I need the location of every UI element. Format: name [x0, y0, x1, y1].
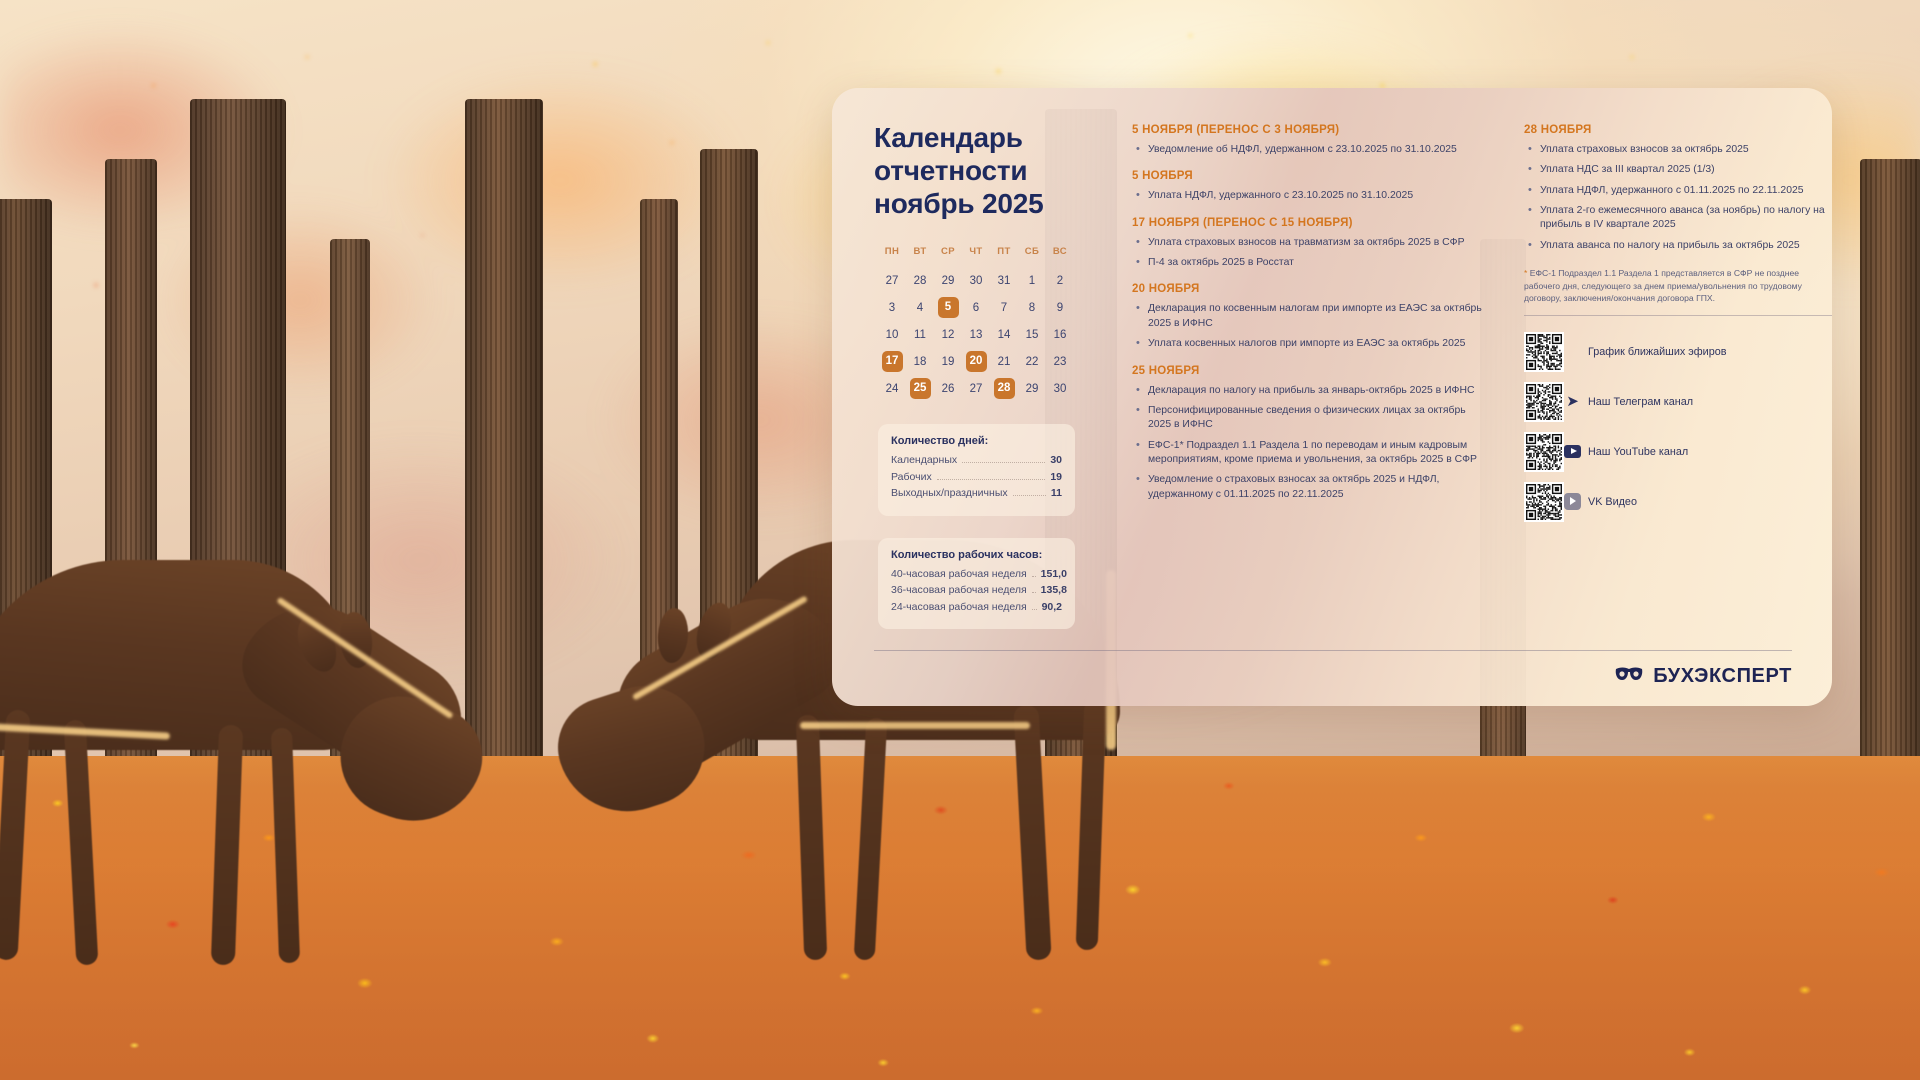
stat-label: Рабочих [891, 471, 932, 483]
work-hours-title: Количество рабочих часов: [891, 549, 1062, 561]
calendar-day[interactable]: 30 [962, 267, 990, 294]
calendar-day[interactable]: 2 [1046, 267, 1074, 294]
weekday-sun: ВС [1046, 246, 1074, 267]
calendar-day[interactable]: 10 [878, 321, 906, 348]
day-chip[interactable]: 20 [966, 351, 987, 372]
footnote-divider [1524, 315, 1832, 316]
calendar-day[interactable]: 27 [878, 267, 906, 294]
stat-label: 36-часовая рабочая неделя [891, 584, 1027, 596]
stat-row: Выходных/праздничных 11 [891, 487, 1062, 499]
calendar-day[interactable]: 28 [906, 267, 934, 294]
stat-row: 36-часовая рабочая неделя 135,8 [891, 584, 1062, 596]
day-chip[interactable]: 5 [938, 297, 959, 318]
calendar-day[interactable]: 29 [934, 267, 962, 294]
stat-dots [1032, 592, 1036, 593]
social-link-label[interactable]: VK Видео [1564, 493, 1637, 510]
stat-row: Календарных 30 [891, 454, 1062, 466]
stat-value: 151,0 [1041, 568, 1067, 580]
stat-value: 11 [1051, 487, 1062, 499]
deadline-date-heading: 20 НОЯБРЯ [1132, 283, 1482, 295]
deadline-item: Уплата страховых взносов за октябрь 2025 [1524, 143, 1832, 157]
calendar-day[interactable]: 14 [990, 321, 1018, 348]
deadline-item: Уплата страховых взносов на травматизм з… [1132, 236, 1482, 250]
social-link-label[interactable]: Наш YouTube канал [1564, 443, 1688, 460]
calendar-day-marked[interactable]: 25 [906, 375, 934, 402]
footnote-text: ЕФС-1 Подраздел 1.1 Раздела 1 представля… [1524, 268, 1802, 303]
deadline-date-heading: 28 НОЯБРЯ [1524, 124, 1832, 136]
stat-dots [1032, 609, 1037, 610]
social-link-row[interactable]: Наш YouTube канал [1524, 432, 1832, 472]
tree-trunk [1860, 159, 1920, 799]
calendar-day[interactable]: 29 [1018, 375, 1046, 402]
stat-dots [962, 462, 1045, 463]
deadline-group: 5 НОЯБРЯУплата НДФЛ, удержанного с 23.10… [1132, 170, 1482, 203]
calendar-day[interactable]: 7 [990, 294, 1018, 321]
calendar-day[interactable]: 27 [962, 375, 990, 402]
weekday-thu: ЧТ [962, 246, 990, 267]
stat-row: Рабочих 19 [891, 471, 1062, 483]
qr-code[interactable] [1524, 332, 1564, 372]
stat-dots [1013, 495, 1046, 496]
qr-code[interactable] [1524, 432, 1564, 472]
glasses-icon [1614, 666, 1644, 687]
stat-value: 135,8 [1041, 584, 1067, 596]
deadline-group: 5 НОЯБРЯ (ПЕРЕНОС С 3 НОЯБРЯ)Уведомление… [1132, 124, 1482, 157]
calendar-week-row: 3456789 [878, 294, 1074, 321]
calendar-week-row: 10111213141516 [878, 321, 1074, 348]
stat-dots [937, 479, 1046, 480]
qr-code[interactable] [1524, 382, 1564, 422]
deadline-group: 17 НОЯБРЯ (ПЕРЕНОС С 15 НОЯБРЯ)Уплата ст… [1132, 217, 1482, 271]
calendar-day-marked[interactable]: 17 [878, 348, 906, 375]
calendar-day[interactable]: 16 [1046, 321, 1074, 348]
calendar-day[interactable]: 24 [878, 375, 906, 402]
calendar-day[interactable]: 11 [906, 321, 934, 348]
link-text: Наш Телеграм канал [1588, 396, 1693, 408]
day-chip[interactable]: 25 [910, 378, 931, 399]
deadline-item: Уплата 2-го ежемесячного аванса (за нояб… [1524, 204, 1832, 233]
weekday-sat: СБ [1018, 246, 1046, 267]
calendar-week-row: 272829303112 [878, 267, 1074, 294]
stat-label: Выходных/праздничных [891, 487, 1008, 499]
stat-value: 19 [1050, 471, 1062, 483]
weekday-tue: ВТ [906, 246, 934, 267]
calendar-day[interactable]: 31 [990, 267, 1018, 294]
deadline-list: Уплата страховых взносов за октябрь 2025… [1524, 143, 1832, 253]
vk-video-icon [1564, 493, 1581, 510]
social-link-label[interactable]: ➤Наш Телеграм канал [1564, 393, 1693, 410]
weekday-mon: ПН [878, 246, 906, 267]
calendar-day[interactable]: 6 [962, 294, 990, 321]
deadline-date-heading: 5 НОЯБРЯ [1132, 170, 1482, 182]
calendar-day-marked[interactable]: 5 [934, 294, 962, 321]
left-column: Календарь отчетности ноябрь 2025 ПН ВТ С… [874, 114, 1102, 706]
day-chip[interactable]: 28 [994, 378, 1015, 399]
calendar-day[interactable]: 26 [934, 375, 962, 402]
calendar-day-marked[interactable]: 28 [990, 375, 1018, 402]
social-links: График ближайших эфиров ➤Наш Телеграм ка… [1524, 332, 1832, 522]
title-line-1: Календарь [874, 122, 1102, 155]
deadline-item: Уплата НДС за III квартал 2025 (1/3) [1524, 163, 1832, 177]
deadline-date-heading: 5 НОЯБРЯ (ПЕРЕНОС С 3 НОЯБРЯ) [1132, 124, 1482, 136]
deadline-item: Декларация по налогу на прибыль за январ… [1132, 384, 1482, 398]
deadline-list: Уплата страховых взносов на травматизм з… [1132, 236, 1482, 271]
panel-footer: БУХЭКСПЕРТ [874, 650, 1792, 688]
stat-row: 24-часовая рабочая неделя 90,2 [891, 601, 1062, 613]
link-text: VK Видео [1588, 496, 1637, 508]
calendar-day[interactable]: 8 [1018, 294, 1046, 321]
link-text: График ближайших эфиров [1588, 346, 1726, 358]
stat-value: 30 [1050, 454, 1062, 466]
stat-label: 24-часовая рабочая неделя [891, 601, 1027, 613]
deadline-item: Уведомление об НДФЛ, удержанном с 23.10.… [1132, 143, 1482, 157]
social-link-label[interactable]: График ближайших эфиров [1564, 346, 1726, 358]
weekday-fri: ПТ [990, 246, 1018, 267]
deadlines-column-middle: 5 НОЯБРЯ (ПЕРЕНОС С 3 НОЯБРЯ)Уведомление… [1132, 114, 1482, 706]
link-text: Наш YouTube канал [1588, 446, 1688, 458]
month-calendar[interactable]: ПН ВТ СР ЧТ ПТ СБ ВС 2728293031123456789… [878, 246, 1074, 402]
stat-label: 40-часовая рабочая неделя [891, 568, 1027, 580]
footer-divider [874, 650, 1792, 651]
calendar-day[interactable]: 19 [934, 348, 962, 375]
page-title: Календарь отчетности ноябрь 2025 [874, 122, 1102, 220]
deadline-group: 28 НОЯБРЯУплата страховых взносов за окт… [1524, 124, 1832, 253]
calendar-day[interactable]: 9 [1046, 294, 1074, 321]
calendar-day[interactable]: 21 [990, 348, 1018, 375]
deer-left [0, 560, 520, 980]
weekday-wed: СР [934, 246, 962, 267]
deadline-group: 25 НОЯБРЯДекларация по налогу на прибыль… [1132, 365, 1482, 503]
calendar-day[interactable]: 30 [1046, 375, 1074, 402]
social-link-row[interactable]: График ближайших эфиров [1524, 332, 1832, 372]
deadline-list: Уплата НДФЛ, удержанного с 23.10.2025 по… [1132, 189, 1482, 203]
deadline-item: Уведомление о страховых взносах за октяб… [1132, 473, 1482, 502]
stat-row: 40-часовая рабочая неделя 151,0 [891, 568, 1062, 580]
social-link-row[interactable]: ➤Наш Телеграм канал [1524, 382, 1832, 422]
calendar-week-row: 24252627282930 [878, 375, 1074, 402]
deadline-group: 20 НОЯБРЯДекларация по косвенным налогам… [1132, 283, 1482, 351]
brand-name: БУХЭКСПЕРТ [1653, 665, 1792, 688]
brand-logo[interactable]: БУХЭКСПЕРТ [874, 665, 1792, 688]
deadline-item: Уплата аванса по налогу на прибыль за ок… [1524, 239, 1832, 253]
deadline-item: Уплата НДФЛ, удержанного с 23.10.2025 по… [1132, 189, 1482, 203]
calendar-info-panel: Календарь отчетности ноябрь 2025 ПН ВТ С… [832, 88, 1832, 706]
title-line-3: ноябрь 2025 [874, 188, 1102, 221]
deadline-item: Уплата косвенных налогов при импорте из … [1132, 337, 1482, 351]
footnote: * ЕФС-1 Подраздел 1.1 Раздела 1 представ… [1524, 267, 1832, 304]
work-hours-rows: 40-часовая рабочая неделя 151,0 36-часов… [891, 568, 1062, 613]
calendar-day[interactable]: 22 [1018, 348, 1046, 375]
calendar-day[interactable]: 18 [906, 348, 934, 375]
calendar-day[interactable]: 23 [1046, 348, 1074, 375]
calendar-day-marked[interactable]: 20 [962, 348, 990, 375]
work-hours-box: Количество рабочих часов: 40-часовая раб… [878, 538, 1075, 630]
day-chip[interactable]: 17 [882, 351, 903, 372]
stat-value: 90,2 [1042, 601, 1062, 613]
deadline-list: Декларация по косвенным налогам при импо… [1132, 302, 1482, 351]
days-count-title: Количество дней: [891, 435, 1062, 447]
calendar-day[interactable]: 4 [906, 294, 934, 321]
calendar-day[interactable]: 15 [1018, 321, 1046, 348]
deadlines-column-right: 28 НОЯБРЯУплата страховых взносов за окт… [1524, 114, 1832, 706]
stat-dots [1032, 576, 1036, 577]
deadline-item: П-4 за октябрь 2025 в Росстат [1132, 256, 1482, 270]
deadline-date-heading: 17 НОЯБРЯ (ПЕРЕНОС С 15 НОЯБРЯ) [1132, 217, 1482, 229]
calendar-week-row: 17181920212223 [878, 348, 1074, 375]
deadline-item: Персонифицированные сведения о физически… [1132, 404, 1482, 433]
qr-code[interactable] [1524, 482, 1564, 522]
days-count-box: Количество дней: Календарных 30 Рабочих … [878, 424, 1075, 516]
stat-label: Календарных [891, 454, 957, 466]
calendar-body: 2728293031123456789101112131415161718192… [878, 267, 1074, 402]
social-link-row[interactable]: VK Видео [1524, 482, 1832, 522]
days-count-rows: Календарных 30 Рабочих 19 Выходных/празд… [891, 454, 1062, 499]
deadline-item: ЕФС-1* Подраздел 1.1 Раздела 1 по перево… [1132, 439, 1482, 468]
deadline-item: Декларация по косвенным налогам при импо… [1132, 302, 1482, 331]
deadline-list: Декларация по налогу на прибыль за январ… [1132, 384, 1482, 503]
deadline-item: Уплата НДФЛ, удержанного с 01.11.2025 по… [1524, 184, 1832, 198]
calendar-day[interactable]: 1 [1018, 267, 1046, 294]
telegram-icon: ➤ [1564, 393, 1581, 410]
title-line-2: отчетности [874, 155, 1102, 188]
youtube-icon [1564, 443, 1581, 460]
calendar-day[interactable]: 12 [934, 321, 962, 348]
deadline-list: Уведомление об НДФЛ, удержанном с 23.10.… [1132, 143, 1482, 157]
calendar-day[interactable]: 13 [962, 321, 990, 348]
calendar-day[interactable]: 3 [878, 294, 906, 321]
deadline-date-heading: 25 НОЯБРЯ [1132, 365, 1482, 377]
calendar-weekday-header: ПН ВТ СР ЧТ ПТ СБ ВС [878, 246, 1074, 267]
deadline-groups: 28 НОЯБРЯУплата страховых взносов за окт… [1524, 124, 1832, 253]
